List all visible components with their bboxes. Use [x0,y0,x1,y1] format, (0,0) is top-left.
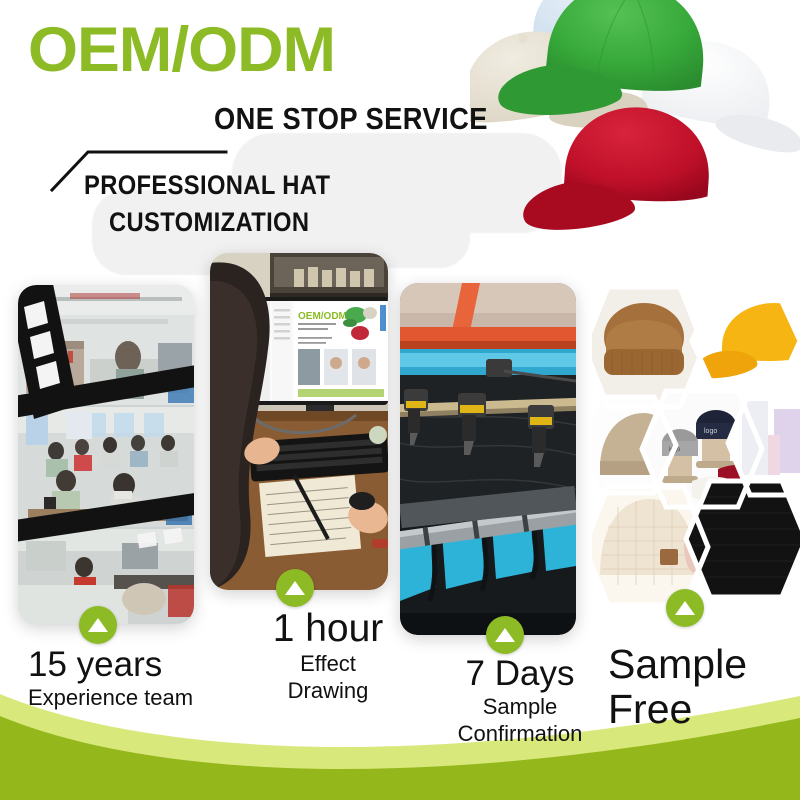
panel-samples-image: logo logo logo [592,275,800,605]
panel-cutting-image [400,283,576,635]
up-triangle-badge-icon [276,569,314,607]
caption-factory-subtitle: Experience team [28,684,193,711]
baseball-caps-cluster-image [470,0,800,260]
caption-samples: Sample Free [608,642,798,732]
up-triangle-badge-icon [79,606,117,644]
tagline: ONE STOP SERVICE [214,103,488,135]
caption-samples-line-1: Sample [608,642,798,687]
monitor-brand-text: OEM/ODM [298,311,347,322]
svg-text:logo: logo [704,428,717,435]
up-triangle-badge-icon [666,589,704,627]
caption-factory-title: 15 years [28,645,193,684]
subtitle-line-2: CUSTOMIZATION [109,208,309,236]
caption-cutting-subtitle-line-2: Confirmation [440,720,600,747]
subtitle-line-1: PROFESSIONAL HAT [84,171,330,199]
caption-design-subtitle-line-1: Effect [248,650,408,677]
page-title: OEM/ODM [28,19,335,82]
panel-design-image: OEM/ODM [210,253,388,590]
poster-canvas: OEM/ODM ONE STOP SERVICE PROFESSIONAL HA… [0,0,800,800]
caption-design-title: 1 hour [248,608,408,650]
caption-samples-line-2: Free [608,687,798,732]
panel-factory-image [18,285,194,624]
caption-cutting-subtitle-line-1: Sample [440,693,600,720]
up-triangle-badge-icon [486,616,524,654]
caption-cutting-title: 7 Days [440,655,600,693]
caption-factory: 15 years Experience team [28,645,193,711]
caption-design: 1 hour Effect Drawing [248,608,408,704]
caption-design-subtitle-line-2: Drawing [248,677,408,704]
caption-cutting: 7 Days Sample Confirmation [440,655,600,747]
